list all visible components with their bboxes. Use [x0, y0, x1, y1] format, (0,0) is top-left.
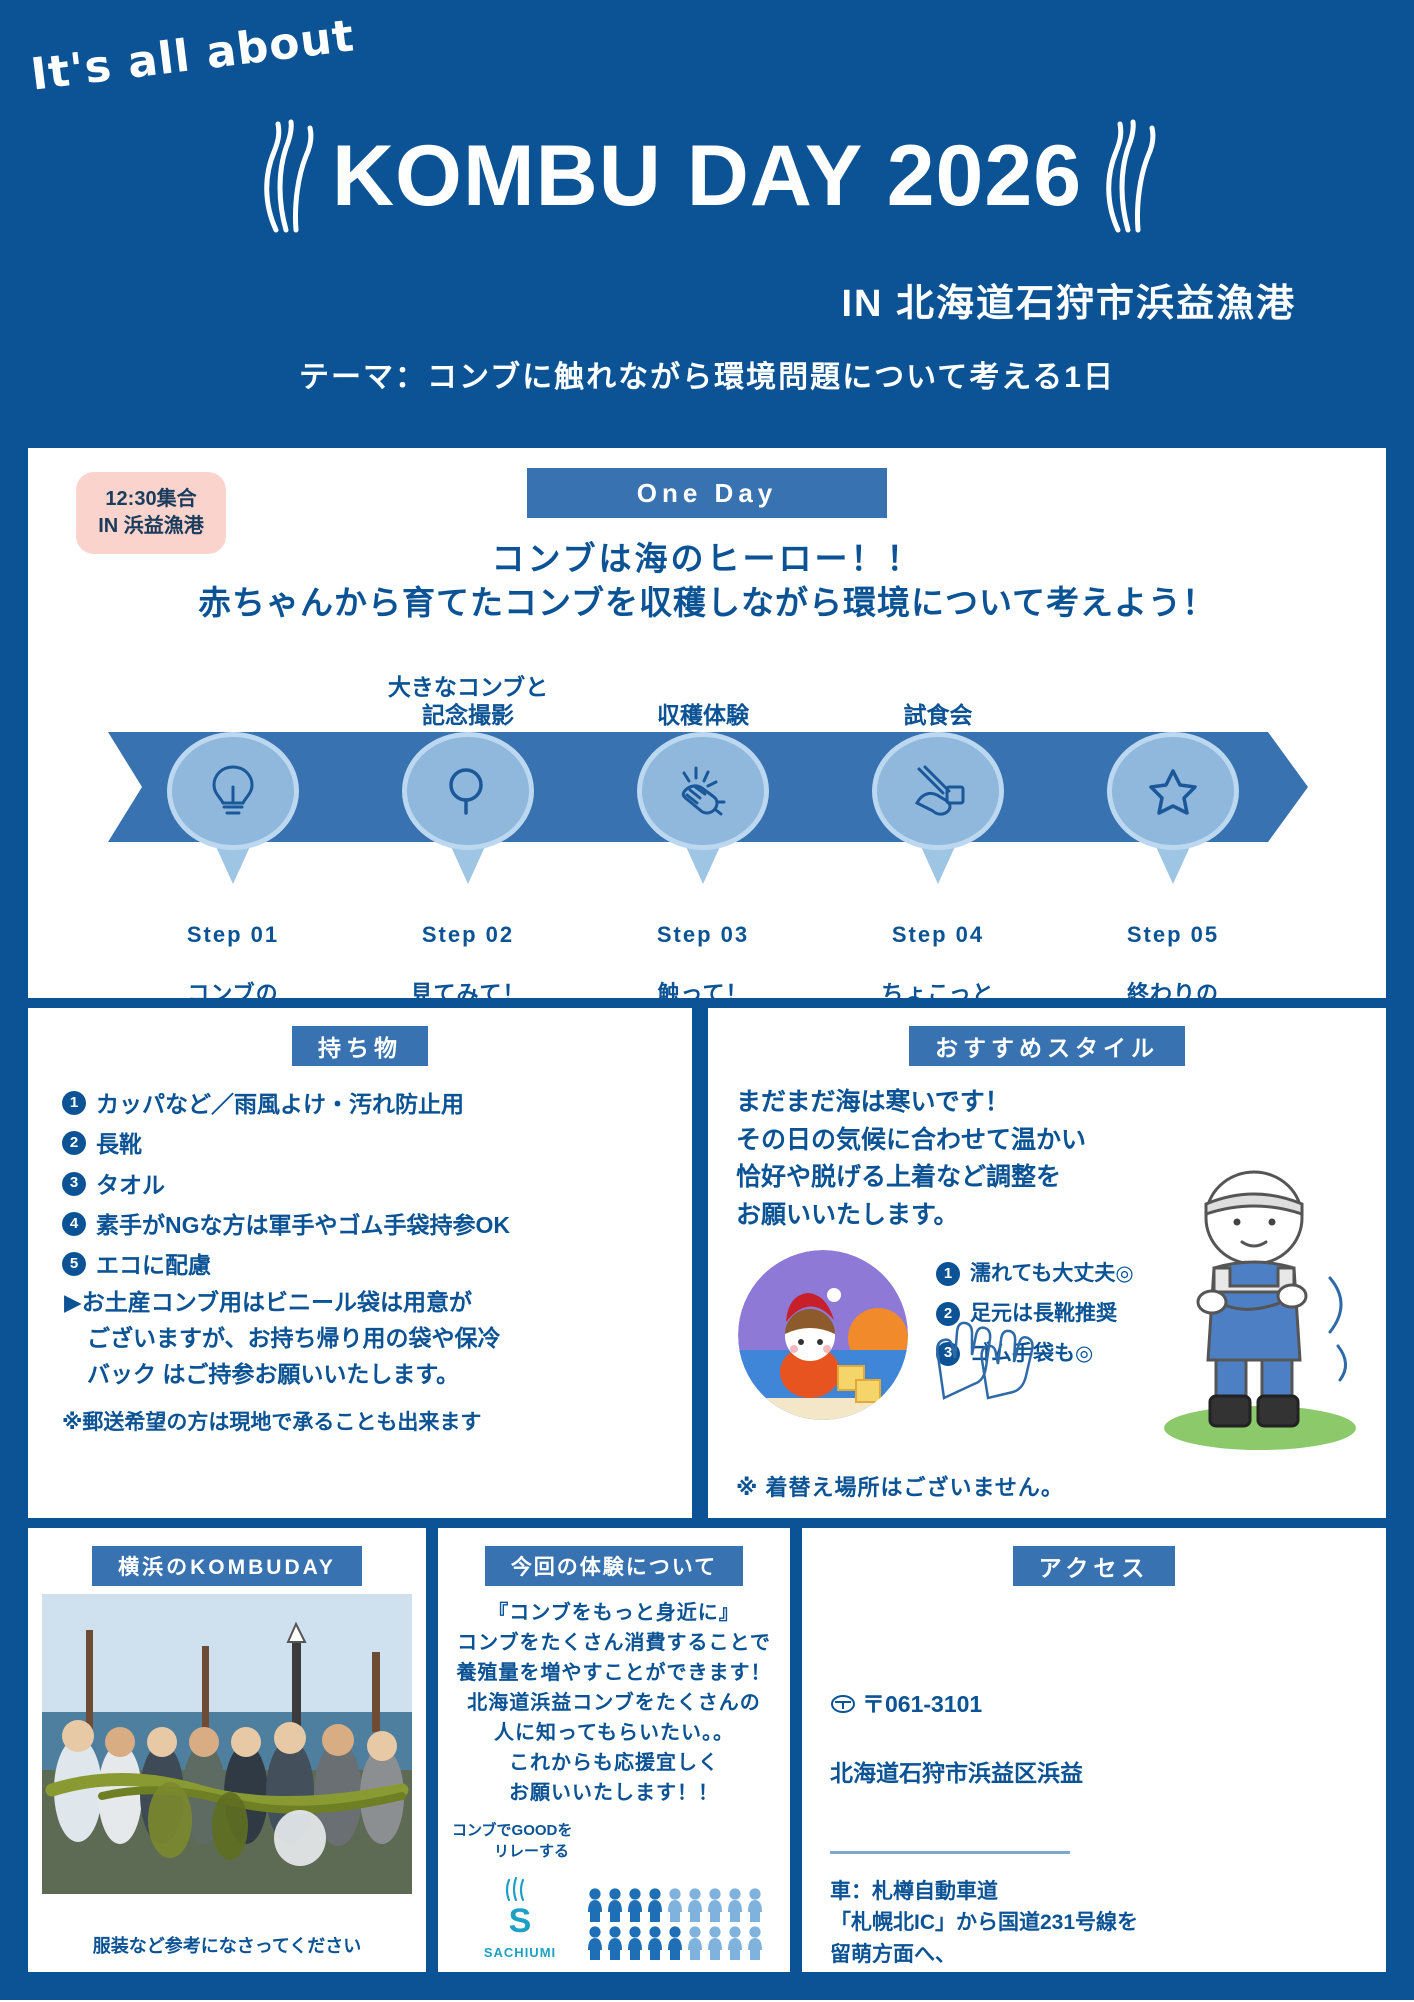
bullet-number: 2 — [62, 1131, 86, 1155]
bring-items-list: 1 カッパなど／雨風よけ・汚れ防止用 2 長靴 3 タオル 4 素手がNGな方は… — [62, 1084, 692, 1285]
about-body-text: 『コンブをもっと身近に』 コンブをたくさん消費することで 養殖量を増やすことがで… — [448, 1598, 780, 1808]
relay-caption: コンブでGOODを リレーする — [452, 1820, 572, 1862]
access-directions: 車：札樽自動車道 「札幌北IC」から国道231号線を 留萌方面へ、 約70キロメ… — [830, 1876, 1386, 2002]
relay-line-2: リレーする — [494, 1841, 572, 1862]
yokohama-kombuday-chip: 横浜のKOMBUDAY — [92, 1546, 362, 1586]
list-item-text: 素手がNGな方は軍手やゴム手袋持参OK — [96, 1205, 510, 1245]
bullet-number: 1 — [62, 1091, 86, 1115]
step-02-number: Step 02 — [353, 920, 583, 950]
people-icons-group — [588, 1888, 784, 1962]
list-item-text: エコに配慮 — [96, 1245, 211, 1285]
access-chip-wrap: アクセス — [802, 1528, 1386, 1586]
steps-list: Step 01 コンブの お話し 大きなコンブと 記念撮影 — [108, 644, 1308, 984]
bring-sub-bullet: ▶お土産コンブ用はビニール袋は用意が ございますが、お持ち帰り用の袋や保冷 バッ… — [64, 1285, 692, 1392]
meeting-time: 12:30集合 — [105, 486, 196, 513]
list-item-text: 濡れても大丈夫◎ — [970, 1254, 1134, 1294]
event-theme: テーマ：コンブに触れながら環境問題について考える1日 — [0, 352, 1414, 396]
list-item-text: 長靴 — [96, 1124, 142, 1164]
step-04-number: Step 04 — [823, 920, 1053, 950]
bring-items-card: 持ち物 1 カッパなど／雨風よけ・汚れ防止用 2 長靴 3 タオル 4 素手がN… — [28, 1008, 692, 1518]
step-05-bubble — [1107, 732, 1239, 882]
step-04-bubble — [872, 732, 1004, 882]
recommended-style-card: おすすめスタイル まだまだ海は寒いです！ その日の気候に合わせて温かい 恰好や脱… — [708, 1008, 1386, 1518]
about-experience-chip: 今回の体験について — [485, 1546, 743, 1586]
sachiumi-logo: S SACHIUMI — [472, 1876, 568, 1960]
yokohama-photo-card: 横浜のKOMBUDAY — [28, 1528, 426, 1972]
access-chip: アクセス — [1013, 1546, 1176, 1586]
sachiumi-logo-label: SACHIUMI — [472, 1945, 568, 1960]
list-item: 3 タオル — [62, 1165, 692, 1205]
magnifier-icon — [443, 763, 493, 819]
step-05-circle — [1107, 732, 1239, 850]
list-item: 4 素手がNGな方は軍手やゴム手袋持参OK — [62, 1205, 692, 1245]
photo-chip-wrap: 横浜のKOMBUDAY — [28, 1528, 426, 1586]
step-01-bubble — [167, 732, 299, 882]
postal-mark-icon — [830, 1694, 856, 1714]
recommended-style-chip: おすすめスタイル — [909, 1026, 1185, 1066]
gloves-icon — [926, 1302, 1046, 1402]
bring-items-chip: 持ち物 — [292, 1026, 428, 1066]
step-03-number: Step 03 — [588, 920, 818, 950]
seaweed-icon-left — [254, 118, 318, 234]
chopsticks-food-icon — [909, 763, 967, 819]
tagline: It's all about — [28, 10, 357, 100]
access-address: 北海道石狩市浜益区浜益 — [830, 1756, 1386, 1791]
relay-line-1: コンブでGOODを — [452, 1820, 572, 1841]
bullet-number: 3 — [62, 1172, 86, 1196]
bullet-number: 4 — [62, 1212, 86, 1236]
title-row: KOMBU DAY 2026 — [0, 118, 1414, 234]
star-icon — [1147, 765, 1199, 817]
access-address-block: 〒061-3101 北海道石狩市浜益区浜益 — [830, 1652, 1386, 1825]
style-chip-wrap: おすすめスタイル — [708, 1008, 1386, 1066]
step-03-bubble — [637, 732, 769, 882]
step-03-circle — [637, 732, 769, 850]
one-day-chip: One Day — [527, 468, 887, 518]
headline-primary: コンブは海のヒーロー！！ — [28, 532, 1386, 580]
bullet-number: 5 — [62, 1252, 86, 1276]
group-photo — [42, 1594, 412, 1894]
bring-chip-wrap: 持ち物 — [28, 1008, 692, 1066]
step-03-top-label: 収穫体験 — [588, 701, 818, 730]
page-title: KOMBU DAY 2026 — [332, 127, 1082, 226]
style-note: ※ 着替え場所はございません。 — [736, 1470, 1064, 1502]
sachiumi-mark-icon: S — [485, 1876, 555, 1938]
postal-row: 〒061-3101 — [830, 1687, 1386, 1722]
bullet-number: 1 — [936, 1262, 960, 1286]
list-item: 5 エコに配慮 — [62, 1245, 692, 1285]
list-item-text: タオル — [96, 1165, 165, 1205]
list-item-text: カッパなど／雨風よけ・汚れ防止用 — [96, 1084, 464, 1124]
list-item: 1 カッパなど／雨風よけ・汚れ防止用 — [62, 1084, 692, 1124]
photo-caption: 服装など参考になさってください — [28, 1932, 426, 1958]
step-05-number: Step 05 — [1058, 920, 1288, 950]
one-day-card: 12:30集合 IN 浜益漁港 One Day コンブは海のヒーロー！！ 赤ちゃ… — [28, 448, 1386, 998]
step-02-top-label: 大きなコンブと 記念撮影 — [353, 673, 583, 731]
step-01-number: Step 01 — [118, 920, 348, 950]
fisherman-illustration — [1142, 1156, 1372, 1456]
about-experience-card: 今回の体験について 『コンブをもっと身近に』 コンブをたくさん消費することで 養… — [438, 1528, 790, 1972]
step-04-circle — [872, 732, 1004, 850]
style-illustration-area: 1 濡れても大丈夫◎ 2 足元は長靴推奨 3 ゴム手袋も◎ — [708, 1244, 1386, 1454]
step-04-top-label: 試食会 — [823, 701, 1053, 730]
about-chip-wrap: 今回の体験について — [438, 1528, 790, 1586]
access-card: アクセス 〒061-3101 北海道石狩市浜益区浜益 車：札樽自動車道 「札幌北… — [802, 1528, 1386, 1972]
header: It's all about KOMBU DAY 2026 IN 北海道石狩市浜… — [0, 0, 1414, 440]
headline-secondary: 赤ちゃんから育てたコンブを収穫しながら環境について考えよう！ — [28, 576, 1386, 624]
winter-kid-illustration — [738, 1250, 908, 1420]
event-location: IN 北海道石狩市浜益漁港 — [841, 272, 1296, 327]
list-item: 2 長靴 — [62, 1124, 692, 1164]
sachiumi-logo-letter: S — [509, 1902, 532, 1938]
lightbulb-icon — [207, 761, 259, 821]
clapping-hands-icon — [674, 762, 732, 820]
list-item: 1 濡れても大丈夫◎ — [936, 1254, 1134, 1294]
flyer-page: It's all about KOMBU DAY 2026 IN 北海道石狩市浜… — [0, 0, 1414, 2000]
postal-code: 〒061-3101 — [862, 1687, 982, 1722]
step-02-bubble — [402, 732, 534, 882]
access-divider — [830, 1851, 1070, 1854]
seaweed-icon-right — [1096, 118, 1160, 234]
step-02-circle — [402, 732, 534, 850]
step-01-circle — [167, 732, 299, 850]
bring-note: ※郵送希望の方は現地で承ることも出来ます — [62, 1406, 692, 1436]
